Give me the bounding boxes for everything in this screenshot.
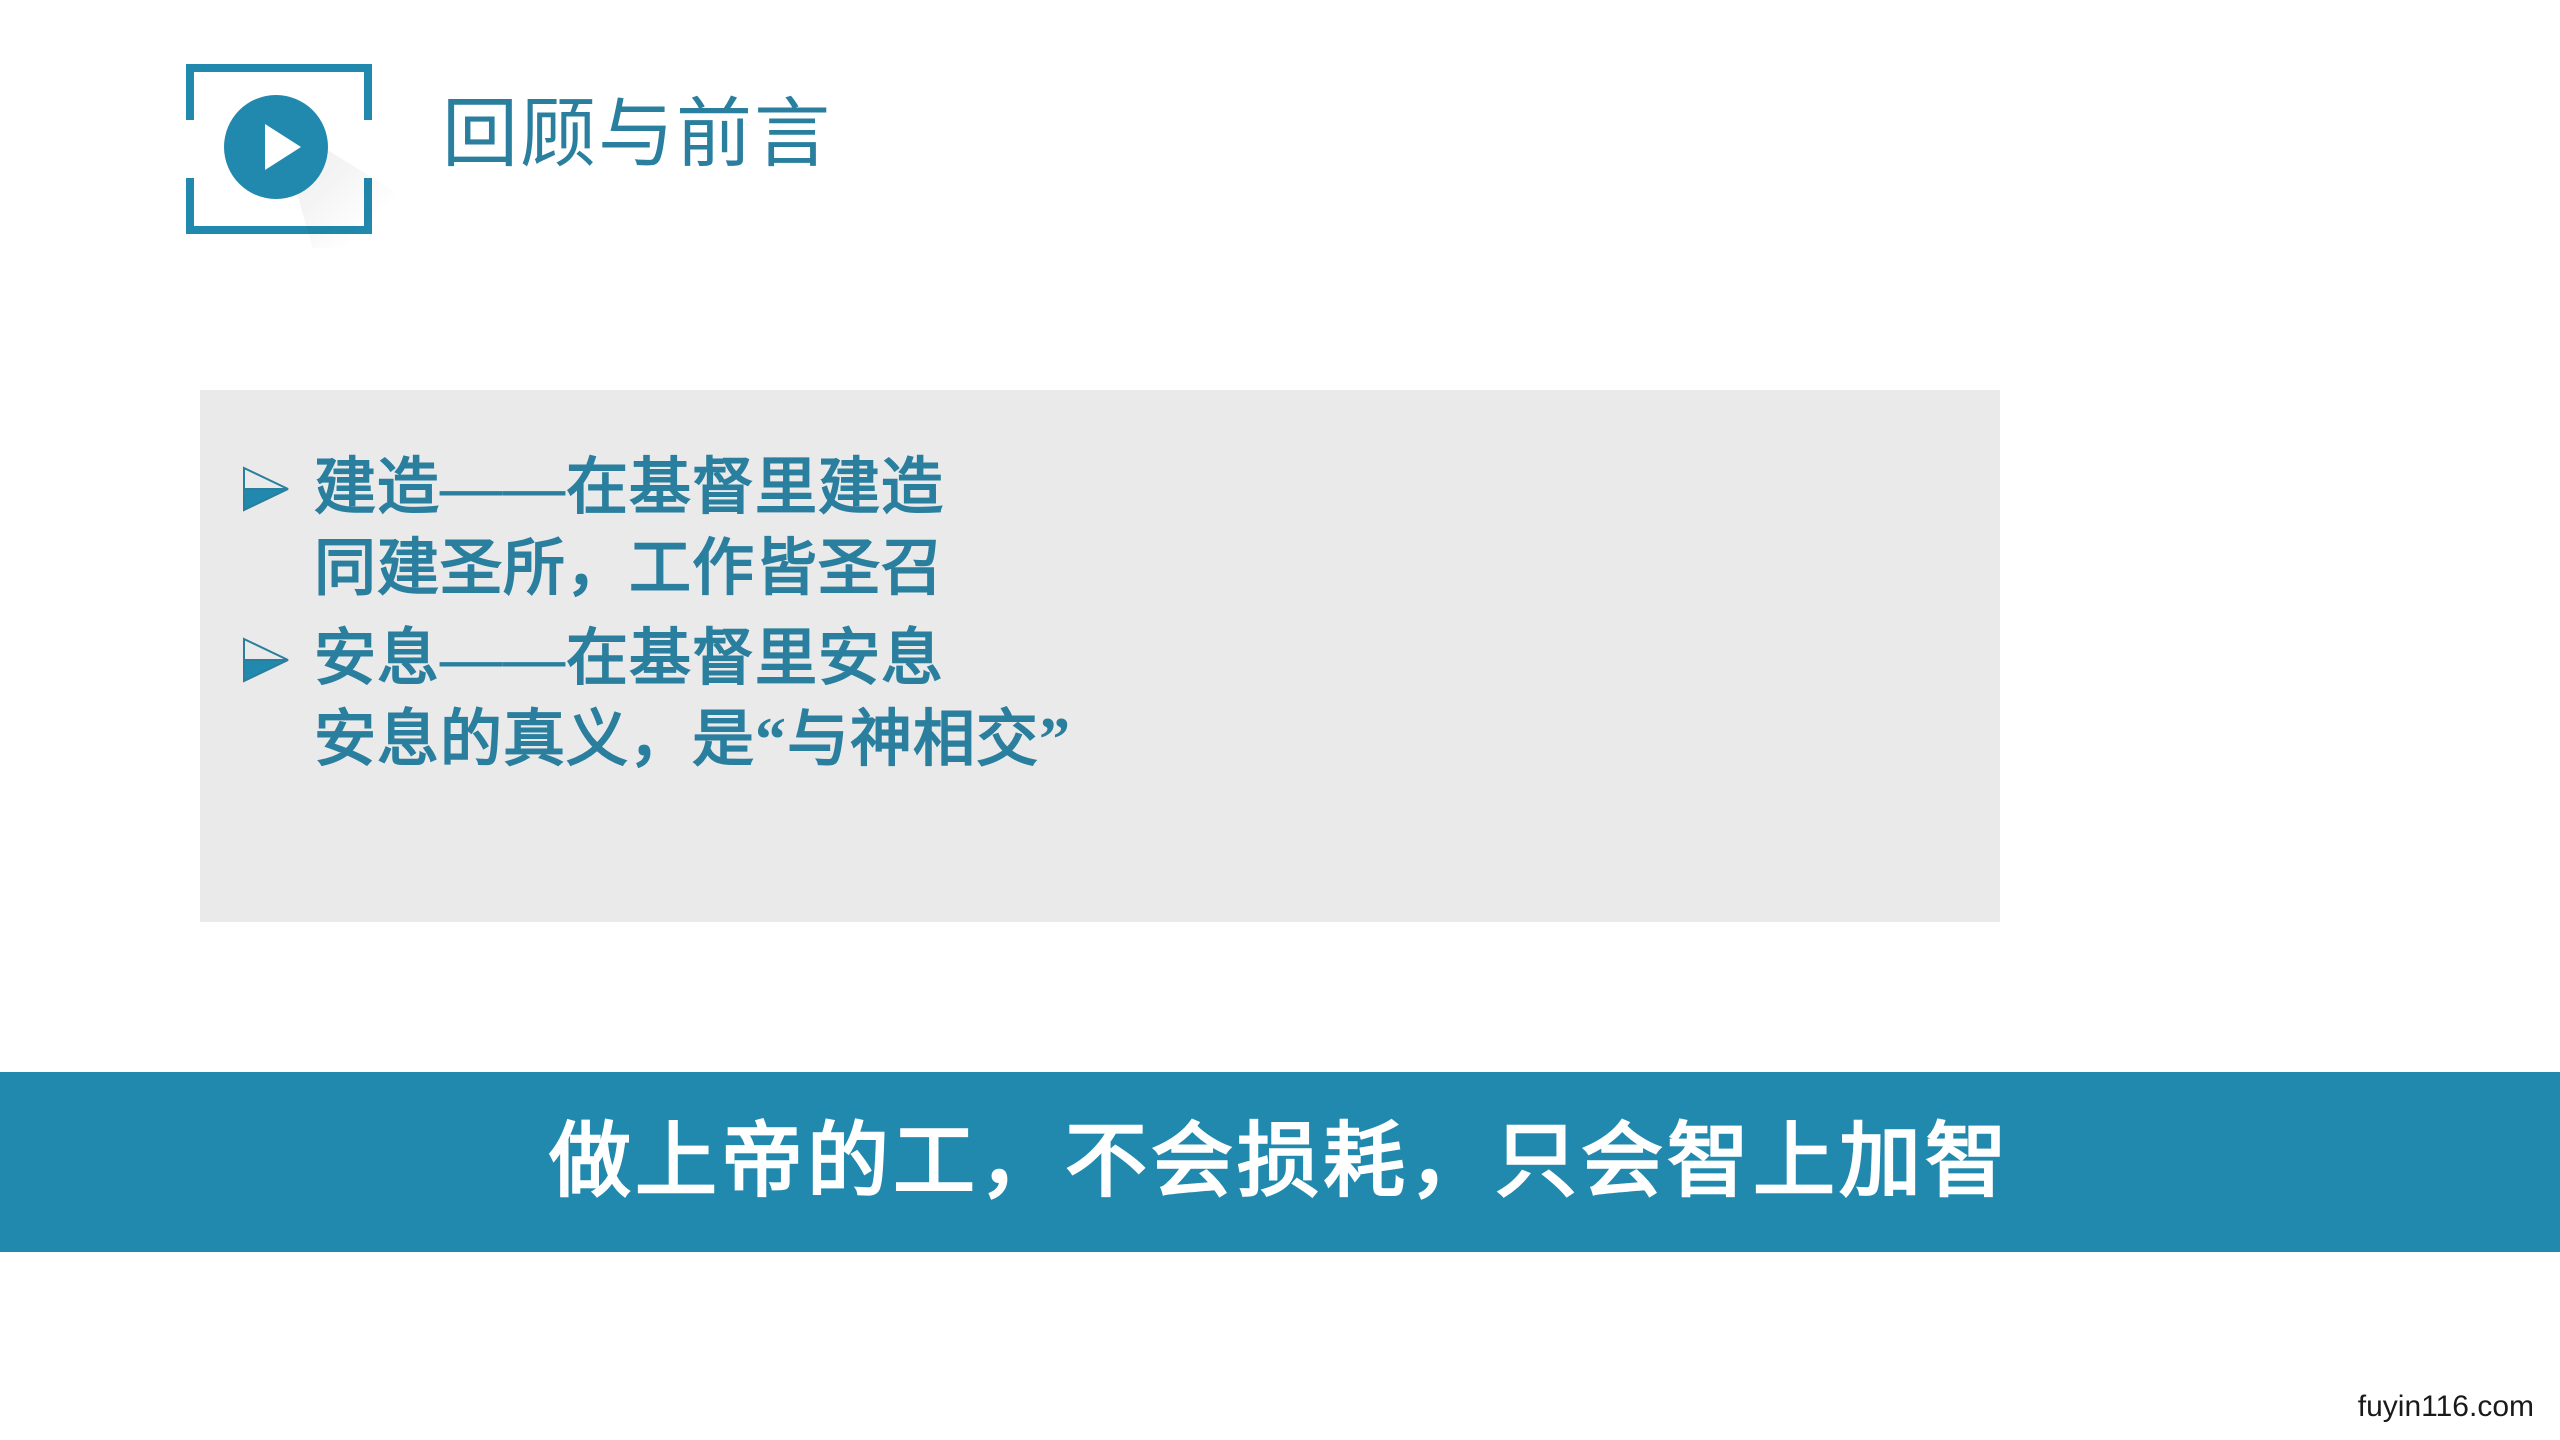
slide-canvas: 回顾与前言 建造——在基督里建造 同建圣所，工作皆圣召: [0, 0, 2560, 1440]
bottom-banner: 做上帝的工，不会损耗，只会智上加智: [0, 1072, 2560, 1252]
banner-text: 做上帝的工，不会损耗，只会智上加智: [549, 1121, 2011, 1203]
bullet-arrow-icon: [218, 619, 314, 683]
bullet-list: 建造——在基督里建造 同建圣所，工作皆圣召 安息——在基督里安息 安息的真义，是…: [218, 448, 2000, 790]
play-button-in-frame-icon: [180, 58, 386, 240]
bullet-line: 同建圣所，工作皆圣召: [314, 529, 2000, 610]
slide-header: 回顾与前言: [180, 58, 1580, 248]
list-item-text: 建造——在基督里建造 同建圣所，工作皆圣召: [314, 448, 2000, 609]
bullet-line: 安息——在基督里安息: [314, 619, 2000, 700]
play-circle-icon: [224, 95, 328, 199]
list-item-text: 安息——在基督里安息 安息的真义，是“与神相交”: [314, 619, 2000, 780]
frame-corner-top-right: [342, 64, 372, 120]
page-title: 回顾与前言: [442, 94, 832, 178]
bullet-arrow-icon: [218, 448, 314, 512]
list-item: 建造——在基督里建造 同建圣所，工作皆圣召: [218, 448, 2000, 609]
play-triangle-icon: [265, 124, 301, 170]
bullet-line: 安息的真义，是“与神相交”: [314, 700, 2000, 781]
bullet-line: 建造——在基督里建造: [314, 448, 2000, 529]
watermark: fuyin116.com: [2358, 1390, 2534, 1424]
content-panel: 建造——在基督里建造 同建圣所，工作皆圣召 安息——在基督里安息 安息的真义，是…: [200, 390, 2000, 922]
list-item: 安息——在基督里安息 安息的真义，是“与神相交”: [218, 619, 2000, 780]
cross-upright: [2079, 290, 2199, 689]
